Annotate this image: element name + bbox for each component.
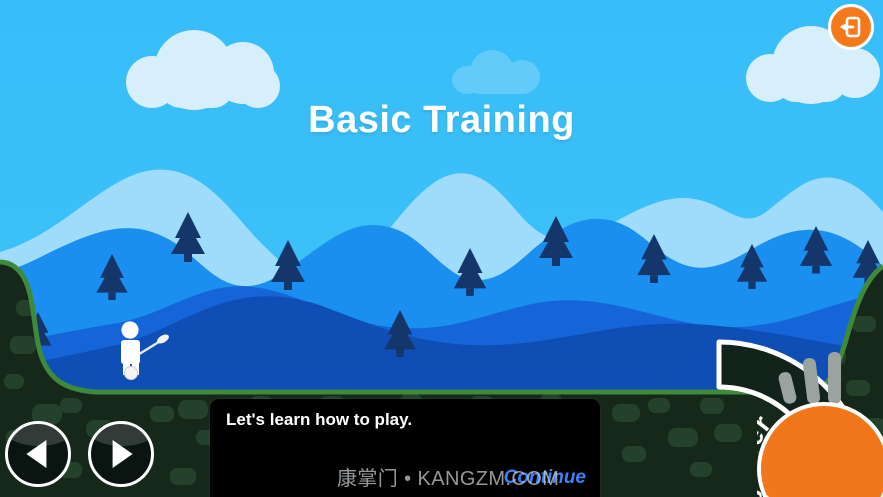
- continue-button[interactable]: Continue: [504, 467, 586, 489]
- prev-button[interactable]: [5, 421, 71, 487]
- golfer-body: [121, 340, 140, 364]
- game-screen: Basic Training: [0, 0, 883, 497]
- exit-button[interactable]: [828, 4, 874, 50]
- golf-ball: [124, 366, 137, 379]
- svg-text:power: power: [757, 409, 778, 497]
- power-label-arc: power: [757, 402, 883, 497]
- triangle-left-icon: [26, 440, 46, 468]
- power-label-text: power: [757, 409, 778, 497]
- exit-door-arrow-icon: [831, 7, 871, 47]
- gauge-tick-3: [828, 352, 841, 404]
- next-button[interactable]: [88, 421, 154, 487]
- golfer-character: [112, 320, 172, 382]
- dialogue-message: Let's learn how to play.: [226, 410, 412, 430]
- dialogue-box[interactable]: Let's learn how to play. Continue: [210, 399, 600, 497]
- power-meter[interactable]: power: [700, 330, 883, 497]
- golfer-head: [121, 321, 138, 338]
- triangle-right-icon: [113, 440, 133, 468]
